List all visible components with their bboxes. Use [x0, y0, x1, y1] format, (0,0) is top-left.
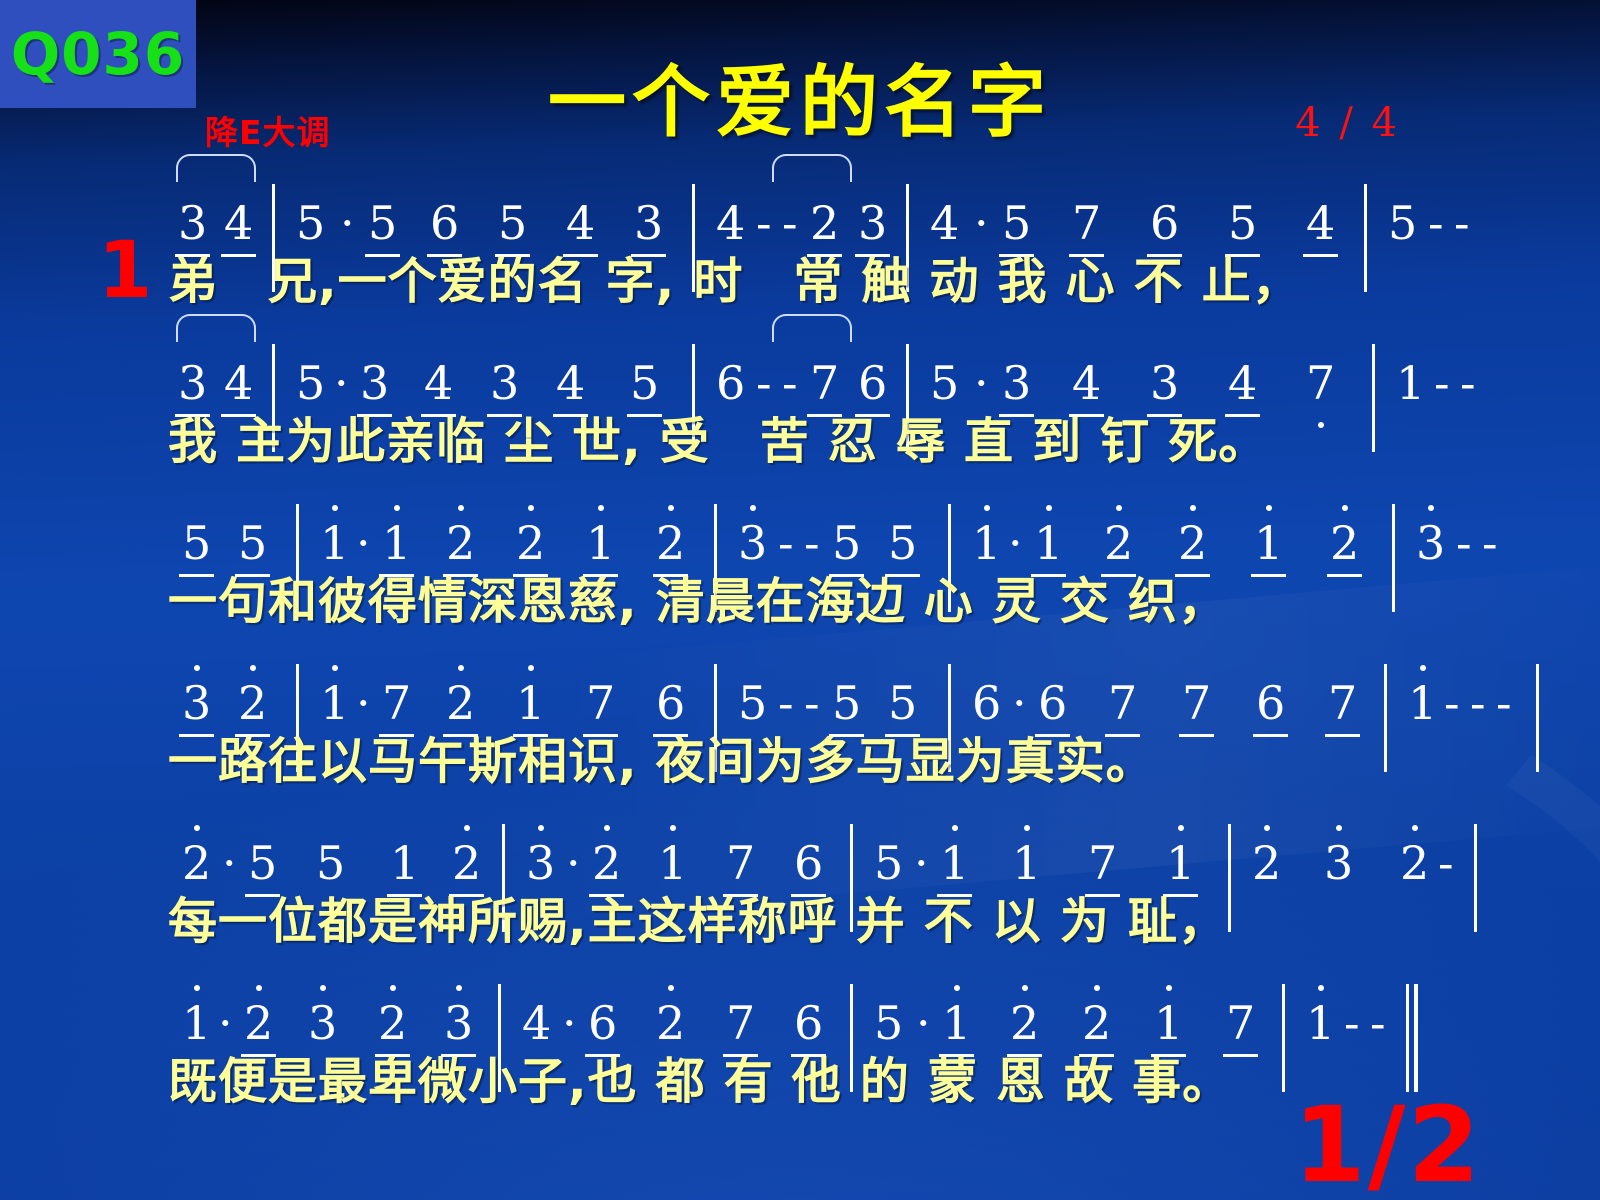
lyrics-row-6: 既便是最卑微小子,也 都 有 他 的 蒙 恩 故 事。	[168, 1042, 1458, 1113]
slur-icon	[772, 314, 852, 342]
score-line-1: 3 4 5 · 5 6 5 4 3 4 - - 2 3 4 · 5	[168, 168, 1458, 328]
score-line-3: 5 5 1 · 1 2 2 1 2 3 - - 5 5 1 · 1 2	[168, 488, 1458, 648]
notation-row-4: 3 2 1 · 7 2 1 7 6 5 - - 5 5 6 · 6 7	[168, 648, 1458, 726]
lyrics-row-4: 一路往以马午斯相识, 夜间为多马显为真实。	[168, 722, 1458, 793]
notation-row-2: 3 4 5 · 3 4 3 4 5 6 - - 7 6 5 · 3	[168, 328, 1458, 406]
time-signature-label: 4 / 4	[1295, 100, 1400, 146]
lyrics-row-1: 弟 兄,一个爱的名 字, 时 常 触 动 我 心 不 止，	[168, 242, 1458, 313]
score-line-2: 3 4 5 · 3 4 3 4 5 6 - - 7 6 5 · 3	[168, 328, 1458, 488]
notation-row-6: 1 · 2 3 2 3 4 · 6 2 7 6 5 · 1 2 2 1 7	[168, 968, 1458, 1046]
slide-canvas: Q036 降E大调 一个爱的名字 4 / 4 1 1/2 3 4 5 · 5 6…	[0, 0, 1600, 1200]
slur-icon	[772, 154, 852, 182]
lyrics-row-5: 每一位都是神所赐,主这样称呼 并 不 以 为 耻，	[168, 882, 1458, 953]
notation-row-3: 5 5 1 · 1 2 2 1 2 3 - - 5 5 1 · 1 2	[168, 488, 1458, 566]
score-line-6: 1 · 2 3 2 3 4 · 6 2 7 6 5 · 1 2 2 1 7	[168, 968, 1458, 1128]
score-systems: 3 4 5 · 5 6 5 4 3 4 - - 2 3 4 · 5	[168, 168, 1458, 1128]
verse-number-label: 1	[98, 232, 152, 310]
notation-row-1: 3 4 5 · 5 6 5 4 3 4 - - 2 3 4 · 5	[168, 168, 1458, 246]
slur-icon	[176, 314, 256, 342]
score-line-5: 2 · 5 5 1 2 3 · 2 1 7 6 5 · 1 1 7 1	[168, 808, 1458, 968]
lyrics-row-2: 我 主为此亲临 尘 世, 受 苦 忍 辱 直 到 钉 死。	[168, 402, 1458, 473]
barline	[1536, 664, 1539, 772]
lyrics-row-3: 一句和彼得情深恩慈, 清晨在海边 心 灵 交 织，	[168, 562, 1458, 633]
notation-row-5: 2 · 5 5 1 2 3 · 2 1 7 6 5 · 1 1 7 1	[168, 808, 1458, 886]
barline	[1474, 824, 1477, 932]
slur-icon	[176, 154, 256, 182]
score-line-4: 3 2 1 · 7 2 1 7 6 5 - - 5 5 6 · 6 7	[168, 648, 1458, 808]
